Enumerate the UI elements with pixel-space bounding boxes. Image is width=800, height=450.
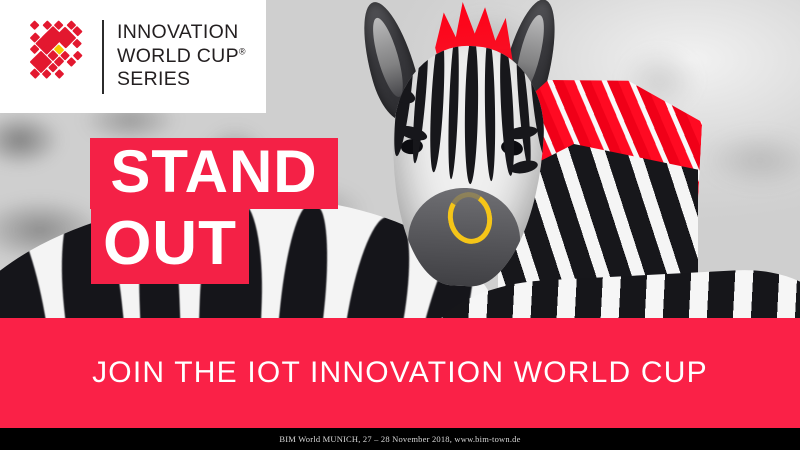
innovation-world-cup-logo-icon	[0, 1, 108, 111]
caption-label: BIM World MUNICH, 27 – 28 November 2018,…	[279, 434, 520, 444]
zebra-head-group	[352, 0, 682, 304]
caption-bar: BIM World MUNICH, 27 – 28 November 2018,…	[0, 428, 800, 450]
logo-card: INNOVATION WORLD CUP® SERIES	[0, 0, 266, 113]
zebra-head-stripe	[464, 42, 480, 184]
zebra-head-stripe	[484, 42, 497, 181]
logo-line-1: INNOVATION	[117, 21, 246, 45]
promo-poster: INNOVATION WORLD CUP® SERIES STAND OUT J…	[0, 0, 800, 450]
zebra-head-stripe	[447, 42, 461, 179]
cta-banner[interactable]: JOIN THE IOT INNOVATION WORLD CUP	[0, 318, 800, 428]
zebra-head-stripe	[498, 42, 517, 176]
cta-label: JOIN THE IOT INNOVATION WORLD CUP	[92, 356, 708, 390]
headline-out: OUT	[91, 207, 249, 284]
logo-line-2-wrap: WORLD CUP®	[117, 45, 246, 69]
zebra-head-stripe	[428, 42, 447, 172]
registered-mark-icon: ®	[239, 46, 246, 56]
headline-stand: STAND	[90, 138, 338, 209]
logo-line-2: WORLD CUP	[117, 45, 239, 67]
logo-wordmark: INNOVATION WORLD CUP® SERIES	[117, 21, 246, 92]
logo-line-3: SERIES	[117, 68, 246, 92]
logo-pixel	[30, 20, 40, 30]
